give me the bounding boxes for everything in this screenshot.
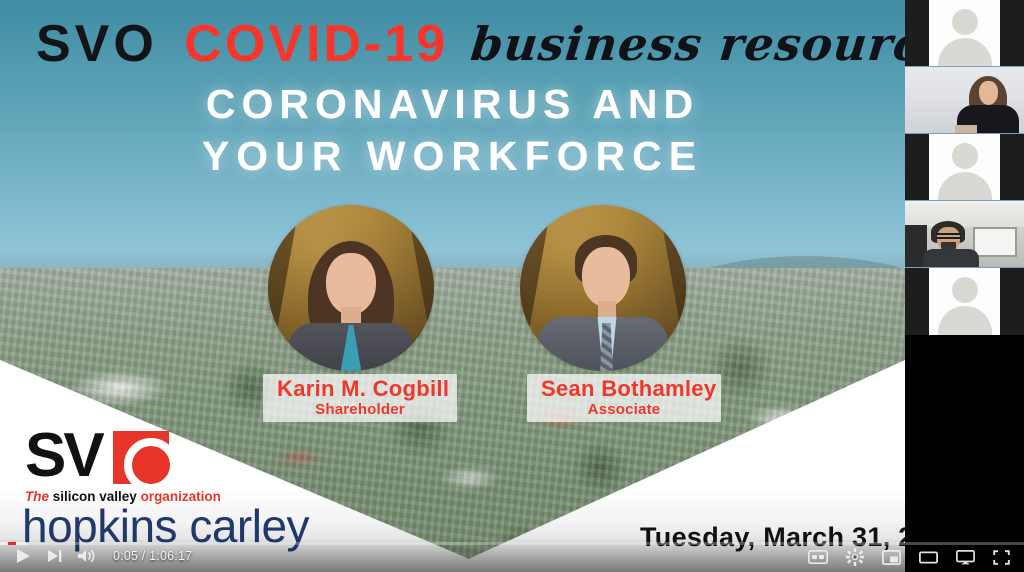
participant-tile-2[interactable] <box>905 67 1024 134</box>
desk-shape <box>955 125 977 134</box>
svo-logomark: SV <box>25 428 190 488</box>
subtitles-icon[interactable] <box>808 550 828 564</box>
theater-mode-icon[interactable] <box>919 550 938 565</box>
svo-logo: SV The silicon valley organization <box>25 428 190 504</box>
time-display: 0:05 / 1:06:17 <box>113 549 192 563</box>
headshot-karin <box>268 205 434 371</box>
subtitle-line-2: YOUR WORKFORCE <box>0 130 905 182</box>
speaker-name: Sean Bothamley <box>541 376 707 401</box>
person-icon-body <box>938 172 992 201</box>
whiteboard-shape <box>973 227 1017 257</box>
speaker-role: Associate <box>541 401 707 418</box>
person-icon <box>952 143 978 169</box>
face-shape <box>582 247 630 307</box>
face-shape <box>326 253 376 315</box>
speaker-nameplate-sean: Sean Bothamley Associate <box>527 374 721 422</box>
speaker-role: Shareholder <box>277 401 443 418</box>
person-icon <box>952 9 978 35</box>
participant-tile-3[interactable] <box>905 134 1024 201</box>
play-button[interactable] <box>14 547 32 565</box>
gear-icon[interactable] <box>846 548 864 566</box>
avatar-card <box>929 268 1000 335</box>
progress-played <box>8 542 16 545</box>
video-player[interactable]: SVO COVID-19 business resourc CORONAVIRU… <box>0 0 1024 572</box>
miniplayer-icon[interactable] <box>882 550 901 565</box>
person-icon <box>952 277 978 303</box>
slide-subtitle: CORONAVIRUS AND YOUR WORKFORCE <box>0 78 905 182</box>
participant-strip[interactable] <box>905 0 1024 337</box>
ceiling-shape <box>905 201 1024 227</box>
svo-letters: SV <box>25 426 102 486</box>
controls-right-group <box>808 548 1010 566</box>
person-icon-body <box>938 306 992 335</box>
avatar-card <box>929 134 1000 200</box>
player-controls-bar[interactable]: 0:05 / 1:06:17 <box>0 538 1024 572</box>
avatar-card <box>929 0 1000 66</box>
torso-shape <box>923 249 979 268</box>
speaker-nameplate-karin: Karin M. Cogbill Shareholder <box>263 374 457 422</box>
subtitle-line-1: CORONAVIRUS AND <box>0 78 905 130</box>
participant-tile-4[interactable] <box>905 201 1024 268</box>
headline-script: business resourc <box>468 17 905 71</box>
face-shape <box>979 81 998 105</box>
cast-icon[interactable] <box>956 550 975 565</box>
headshot-sean <box>520 205 686 371</box>
participant-tile-1[interactable] <box>905 0 1024 67</box>
person-icon-body <box>938 38 992 67</box>
progress-bar[interactable] <box>0 542 1024 545</box>
participant-tile-5[interactable] <box>905 268 1024 335</box>
glasses-shape <box>936 233 961 239</box>
headline-topic: COVID-19 <box>184 15 448 73</box>
svo-o-ring <box>124 438 178 492</box>
speaker-name: Karin M. Cogbill <box>277 376 443 401</box>
slide-headline: SVO COVID-19 business resourc <box>36 14 905 74</box>
controls-left-group: 0:05 / 1:06:17 <box>14 547 192 565</box>
volume-button[interactable] <box>77 548 97 564</box>
next-button[interactable] <box>46 548 63 564</box>
shared-slide: SVO COVID-19 business resourc CORONAVIRU… <box>0 0 905 572</box>
headline-brand: SVO <box>36 15 158 73</box>
fullscreen-icon[interactable] <box>993 550 1010 565</box>
